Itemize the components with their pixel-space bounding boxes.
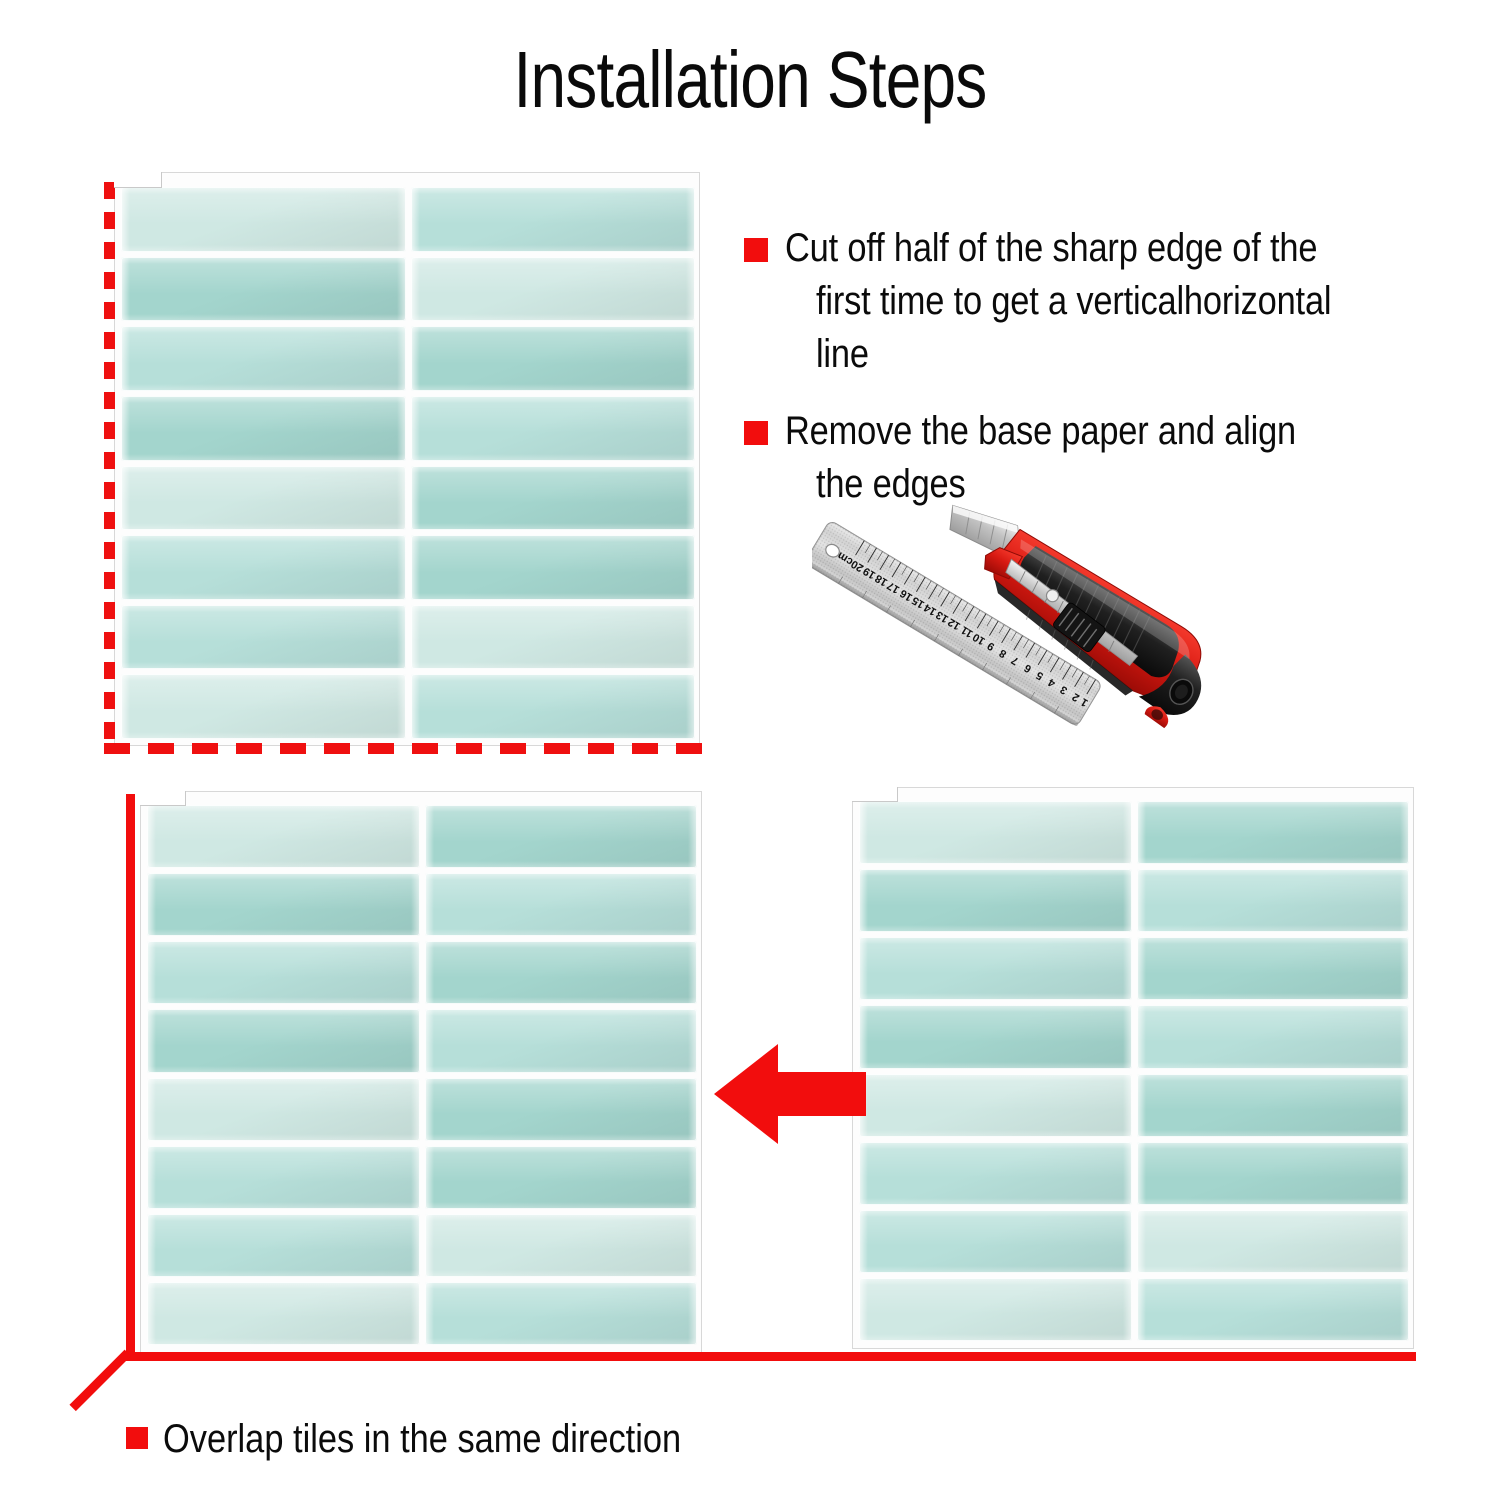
overlap-caption: Overlap tiles in the same direction — [126, 1414, 766, 1464]
tile — [425, 1078, 698, 1141]
red-square-bullet-icon — [744, 421, 768, 445]
cut-guide-dashed-bottom — [104, 743, 704, 754]
tile — [859, 937, 1132, 1000]
tile — [147, 805, 420, 868]
tile — [121, 605, 406, 670]
tile — [411, 396, 696, 461]
tile-grid — [147, 805, 697, 1345]
tile — [147, 1146, 420, 1209]
tile — [859, 1074, 1132, 1137]
sheet-corner-notch — [140, 791, 186, 806]
tile — [425, 805, 698, 868]
tile — [411, 257, 696, 322]
page-title: Installation Steps — [150, 34, 1350, 126]
tile — [425, 941, 698, 1004]
tile-sheet-top-left — [114, 172, 700, 746]
tile — [147, 941, 420, 1004]
cut-guide-dashed-left — [104, 182, 115, 754]
tile — [411, 187, 696, 252]
tile — [859, 869, 1132, 932]
tile — [147, 873, 420, 936]
tile — [859, 801, 1132, 864]
alignment-guide-bottom — [126, 1352, 1416, 1361]
step-2-line-1: Remove the base paper and align — [785, 409, 1296, 453]
tile-grid — [121, 187, 695, 739]
tile — [411, 466, 696, 531]
overlap-caption-text: Overlap tiles in the same direction — [163, 1414, 681, 1464]
tile — [1137, 1005, 1410, 1068]
tile — [121, 257, 406, 322]
tile — [425, 1214, 698, 1277]
step-1-line-1: Cut off half of the sharp edge of the — [785, 226, 1317, 270]
tile — [425, 1282, 698, 1345]
tile — [121, 466, 406, 531]
tile — [1137, 801, 1410, 864]
tile — [147, 1282, 420, 1345]
tile — [859, 1210, 1132, 1273]
tile — [1137, 1142, 1410, 1205]
tile — [411, 674, 696, 739]
tile — [147, 1214, 420, 1277]
infographic-canvas: Installation Steps Cut off half of the s… — [0, 0, 1500, 1500]
tile — [425, 873, 698, 936]
tile — [147, 1009, 420, 1072]
step-1-line-2: first time to get a verticalhorizontal l… — [785, 275, 1386, 381]
tile-grid — [859, 801, 1409, 1341]
red-square-bullet-icon — [126, 1427, 148, 1449]
red-square-bullet-icon — [744, 238, 768, 262]
tile — [121, 396, 406, 461]
tile — [1137, 1074, 1410, 1137]
tile — [121, 187, 406, 252]
tile — [1137, 937, 1410, 1000]
tile — [1137, 869, 1410, 932]
left-arrow-icon — [710, 1036, 870, 1148]
tile — [859, 1142, 1132, 1205]
tile — [859, 1005, 1132, 1068]
instruction-step-1: Cut off half of the sharp edge of the fi… — [744, 222, 1484, 381]
tools-illustration: cm 20 19 18 17 16 15 14 13 12 11 10 9 8 — [812, 462, 1332, 774]
tile — [147, 1078, 420, 1141]
tile — [411, 326, 696, 391]
tile — [425, 1146, 698, 1209]
tile — [859, 1278, 1132, 1341]
alignment-guide-left — [126, 794, 135, 1360]
tile — [121, 535, 406, 600]
sheet-corner-notch — [114, 172, 162, 188]
tile — [1137, 1210, 1410, 1273]
tile — [411, 535, 696, 600]
tile — [411, 605, 696, 670]
alignment-guide-diagonal — [69, 1350, 131, 1412]
tile-sheet-bottom-right — [852, 787, 1414, 1349]
tile — [1137, 1278, 1410, 1341]
tile — [121, 326, 406, 391]
tile — [425, 1009, 698, 1072]
instruction-step-1-text: Cut off half of the sharp edge of the fi… — [785, 222, 1386, 381]
sheet-corner-notch — [852, 787, 898, 802]
tile — [121, 674, 406, 739]
tile-sheet-bottom-left — [140, 791, 702, 1353]
